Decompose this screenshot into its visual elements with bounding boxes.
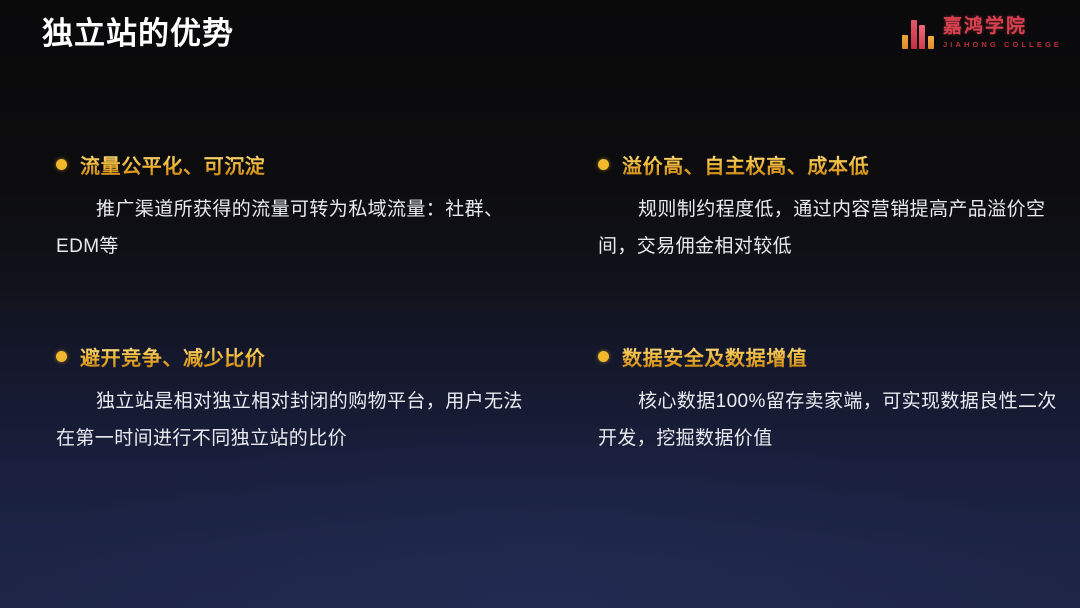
content-row-top: 流量公平化、可沉淀 推广渠道所获得的流量可转为私域流量：社群、EDM等 溢价高、… <box>0 150 1080 265</box>
block-body-text: 核心数据100%留存卖家端，可实现数据良性二次开发，挖掘数据价值 <box>598 383 1062 457</box>
block-data-security: 数据安全及数据增值 核心数据100%留存卖家端，可实现数据良性二次开发，挖掘数据… <box>560 342 1080 457</box>
block-heading-label: 数据安全及数据增值 <box>622 342 807 371</box>
bullet-dot-icon <box>598 351 609 362</box>
bar-chart-logo-icon <box>902 17 934 49</box>
bullet-dot-icon <box>56 351 67 362</box>
logo-name-cn: 嘉鸿学院 <box>943 17 1062 36</box>
page-title: 独立站的优势 <box>42 14 234 54</box>
bullet-dot-icon <box>598 159 609 170</box>
block-traffic-fairness: 流量公平化、可沉淀 推广渠道所获得的流量可转为私域流量：社群、EDM等 <box>0 150 560 265</box>
bullet-dot-icon <box>56 159 67 170</box>
block-body-text: 推广渠道所获得的流量可转为私域流量：社群、EDM等 <box>56 191 542 265</box>
block-premium-autonomy: 溢价高、自主权高、成本低 规则制约程度低，通过内容营销提高产品溢价空间，交易佣金… <box>560 150 1080 265</box>
logo-wordmark: 嘉鸿学院 JIAHONG COLLEGE <box>943 17 1062 49</box>
content-row-bottom: 避开竞争、减少比价 独立站是相对独立相对封闭的购物平台，用户无法在第一时间进行不… <box>0 342 1080 457</box>
block-heading-label: 避开竞争、减少比价 <box>80 342 265 371</box>
content-area: 流量公平化、可沉淀 推广渠道所获得的流量可转为私域流量：社群、EDM等 溢价高、… <box>0 150 1080 457</box>
logo-name-en: JIAHONG COLLEGE <box>943 41 1062 49</box>
brand-logo: 嘉鸿学院 JIAHONG COLLEGE <box>902 17 1062 49</box>
block-heading-label: 流量公平化、可沉淀 <box>80 150 265 179</box>
block-heading: 避开竞争、减少比价 <box>56 342 542 371</box>
block-body-text: 规则制约程度低，通过内容营销提高产品溢价空间，交易佣金相对较低 <box>598 191 1062 265</box>
block-body-text: 独立站是相对独立相对封闭的购物平台，用户无法在第一时间进行不同独立站的比价 <box>56 383 542 457</box>
block-heading-label: 溢价高、自主权高、成本低 <box>622 150 869 179</box>
block-avoid-competition: 避开竞争、减少比价 独立站是相对独立相对封闭的购物平台，用户无法在第一时间进行不… <box>0 342 560 457</box>
block-heading: 数据安全及数据增值 <box>598 342 1062 371</box>
block-heading: 溢价高、自主权高、成本低 <box>598 150 1062 179</box>
slide-canvas: 独立站的优势 嘉鸿学院 JIAHONG COLLEGE 流量公平化、可沉淀 推广… <box>0 0 1080 608</box>
block-heading: 流量公平化、可沉淀 <box>56 150 542 179</box>
